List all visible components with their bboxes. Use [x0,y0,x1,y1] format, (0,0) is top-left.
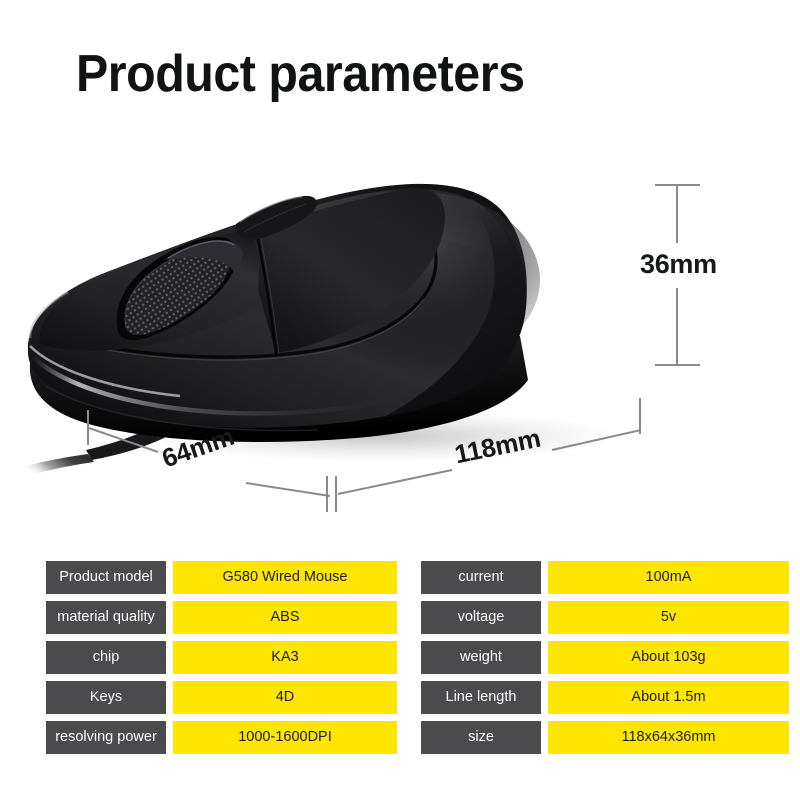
spec-key: material quality [46,601,166,634]
spec-value: 1000-1600DPI [173,721,397,754]
table-row: Product model G580 Wired Mouse current 1… [46,561,758,594]
spec-value: KA3 [173,641,397,674]
spec-key: Product model [46,561,166,594]
spec-value: 100mA [548,561,789,594]
column-gap [404,641,414,674]
page-title: Product parameters [76,46,525,103]
dimension-height-label: 36mm [640,249,717,280]
column-gap [404,681,414,714]
spec-key: weight [421,641,541,674]
table-row: resolving power 1000-1600DPI size 118x64… [46,721,758,754]
spec-key: Line length [421,681,541,714]
table-row: material quality ABS voltage 5v [46,601,758,634]
column-gap [404,561,414,594]
spec-key: chip [46,641,166,674]
spec-value: ABS [173,601,397,634]
column-gap [404,601,414,634]
spec-value: 118x64x36mm [548,721,789,754]
spec-key: Keys [46,681,166,714]
spec-key: current [421,561,541,594]
spec-key: voltage [421,601,541,634]
spec-value: About 1.5m [548,681,789,714]
spec-key: size [421,721,541,754]
spec-table: Product model G580 Wired Mouse current 1… [46,561,758,754]
spec-value: G580 Wired Mouse [173,561,397,594]
table-row: chip KA3 weight About 103g [46,641,758,674]
spec-value: 5v [548,601,789,634]
product-image [0,140,800,540]
column-gap [404,721,414,754]
table-row: Keys 4D Line length About 1.5m [46,681,758,714]
spec-value: About 103g [548,641,789,674]
spec-key: resolving power [46,721,166,754]
spec-value: 4D [173,681,397,714]
